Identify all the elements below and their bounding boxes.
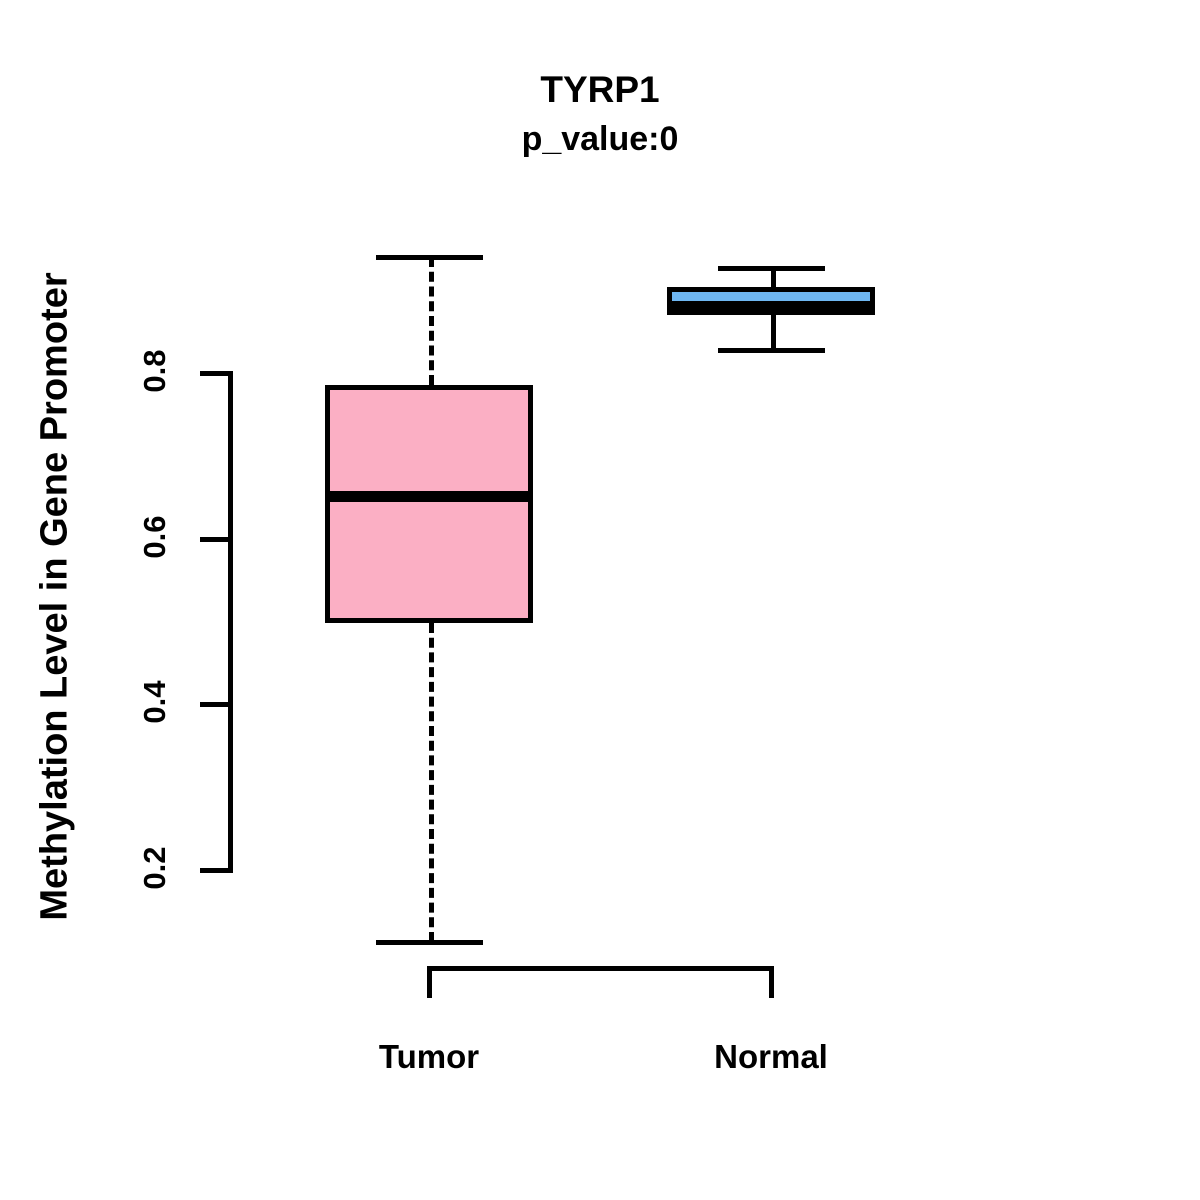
x-axis-line <box>427 966 774 971</box>
median-line-normal <box>667 301 875 310</box>
whisker-cap-upper-normal <box>718 266 825 271</box>
chart-subtitle: p_value:0 <box>0 118 1200 160</box>
whisker-lower-normal <box>771 315 776 350</box>
y-tick-label-0.4: 0.4 <box>137 657 173 747</box>
y-tick-label-0.6: 0.6 <box>137 492 173 582</box>
x-tick-label-tumor: Tumor <box>299 1038 559 1076</box>
boxplot-figure: TYRP1 p_value:0 Methylation Level in Gen… <box>0 0 1200 1200</box>
y-axis-line <box>228 371 233 873</box>
x-tick-mark-normal <box>769 966 774 998</box>
x-tick-label-normal: Normal <box>641 1038 901 1076</box>
y-tick-mark-0.4 <box>200 702 230 707</box>
y-tick-mark-0.8 <box>200 371 230 376</box>
y-tick-label-0.2: 0.2 <box>137 823 173 913</box>
chart-title: TYRP1 <box>0 68 1200 112</box>
box-tumor <box>325 385 533 624</box>
median-line-tumor <box>325 491 533 502</box>
y-axis-title: Methylation Level in Gene Promoter <box>34 187 77 1007</box>
whisker-lower-tumor <box>429 623 434 942</box>
y-tick-mark-0.2 <box>200 868 230 873</box>
y-tick-label-0.8: 0.8 <box>137 326 173 416</box>
whisker-cap-upper-tumor <box>376 255 483 260</box>
whisker-upper-tumor <box>429 257 434 385</box>
whisker-cap-lower-tumor <box>376 940 483 945</box>
whisker-cap-lower-normal <box>718 348 825 353</box>
x-tick-mark-tumor <box>427 966 432 998</box>
y-tick-mark-0.6 <box>200 537 230 542</box>
